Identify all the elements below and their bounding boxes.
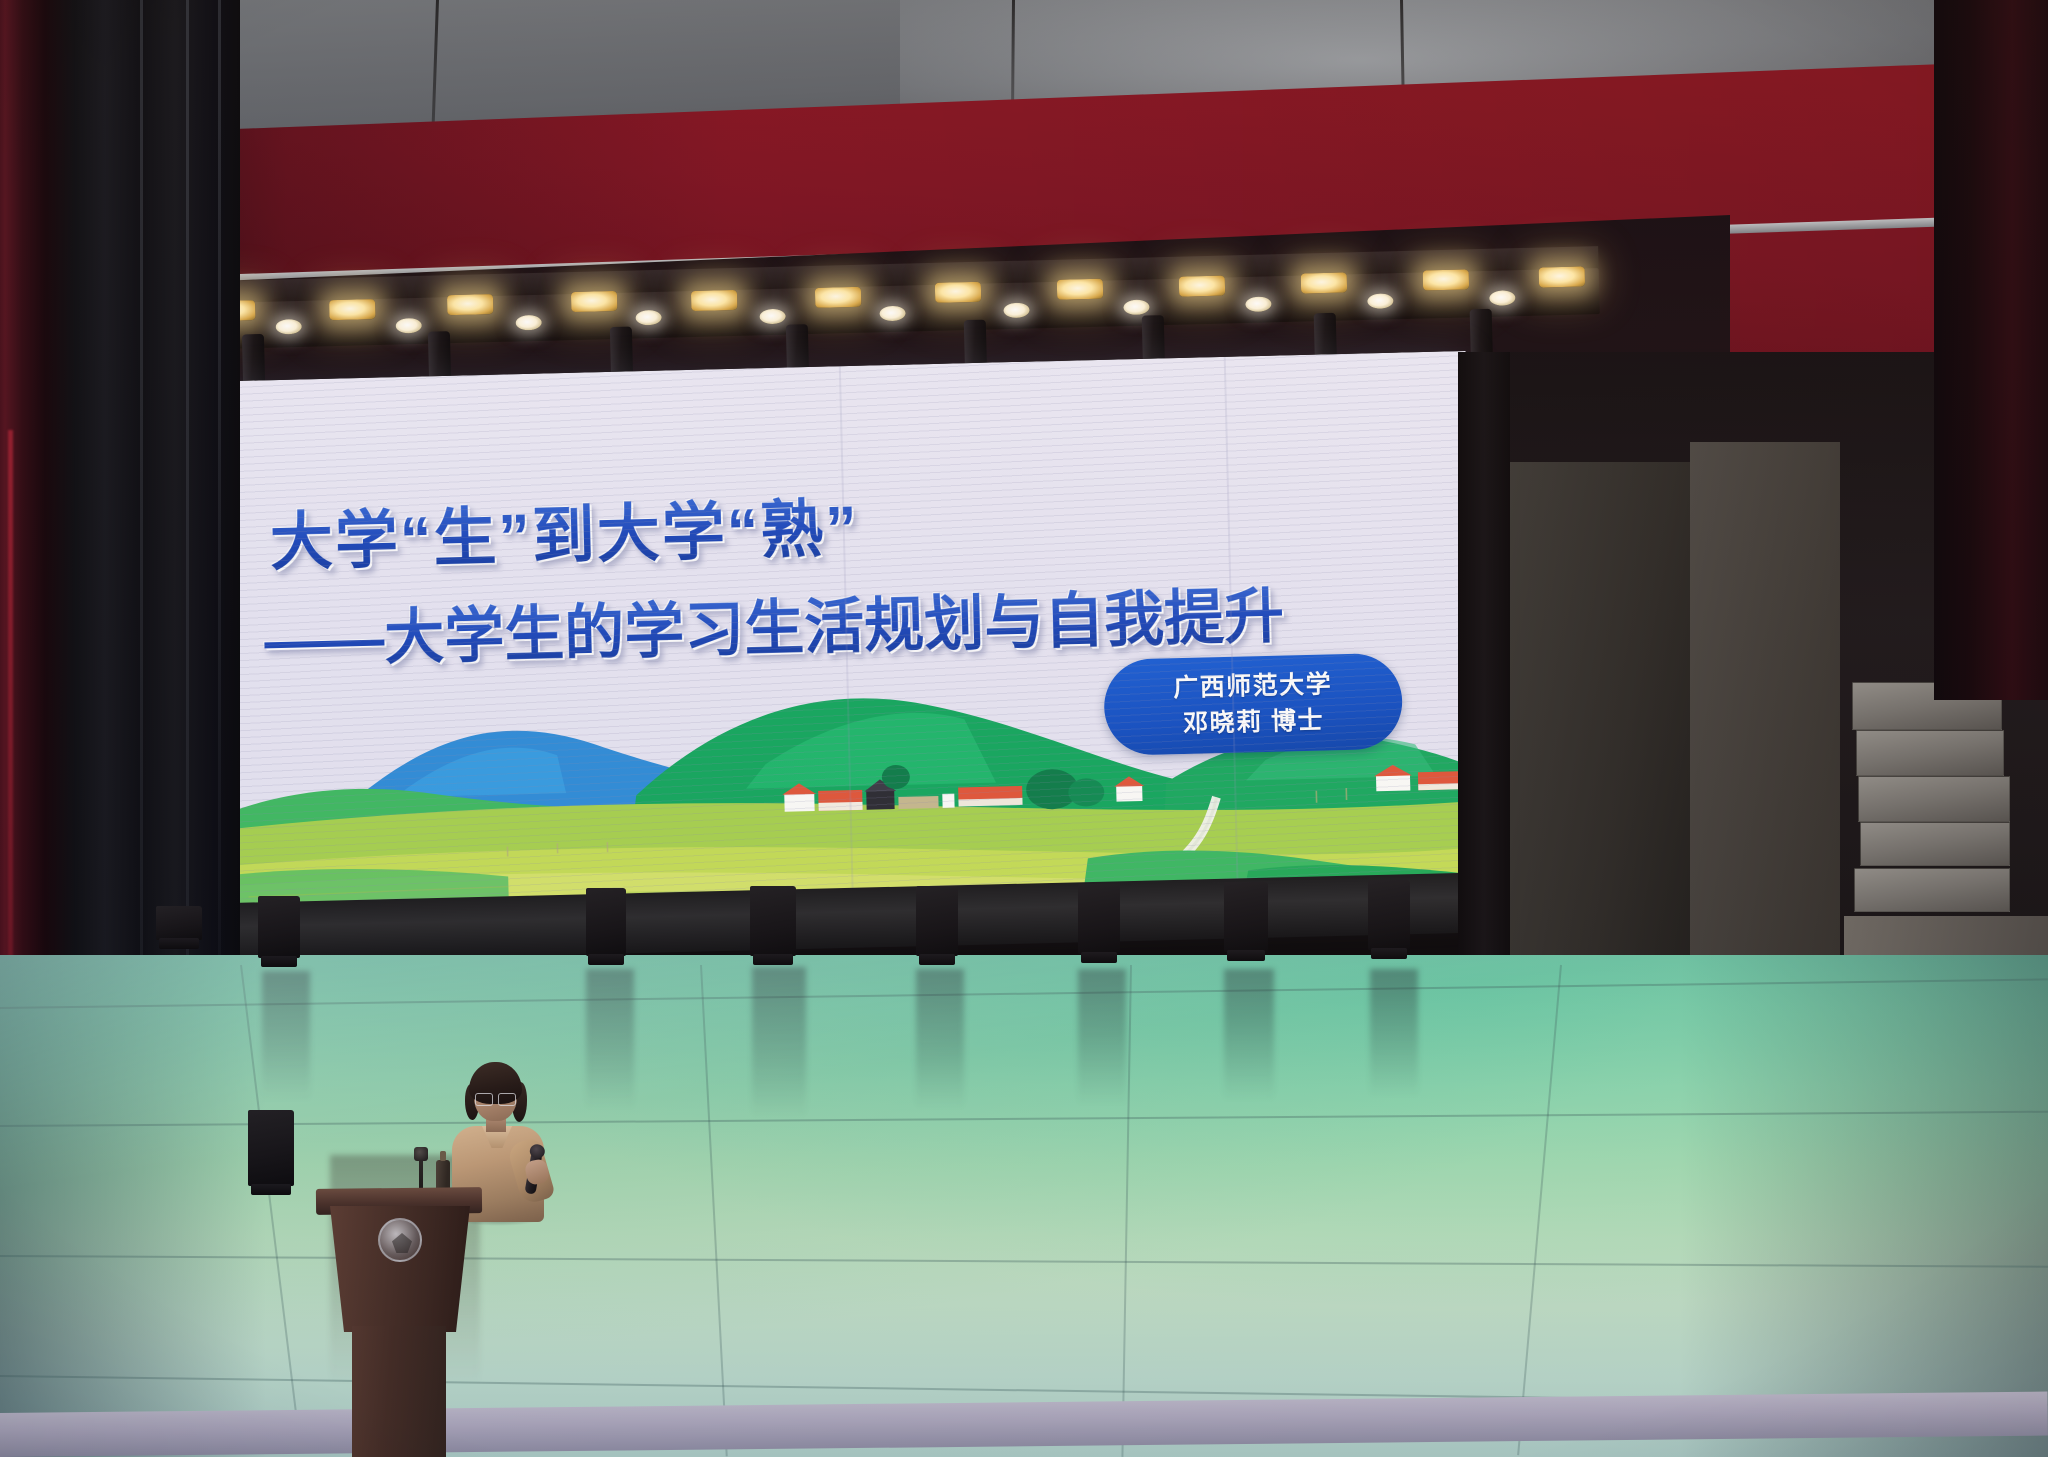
floor-gloss-highlight: [0, 955, 2048, 1457]
stage-monitor-speaker: [156, 906, 202, 940]
stage-lamp: [571, 291, 617, 312]
slide-surface: 大学“生”到大学“熟” ——大学生的学习生活规划与自我提升 广西师范大学 邓晓莉…: [196, 351, 1479, 942]
stage-monitor-speaker: [1078, 884, 1120, 954]
presenter-badge: 广西师范大学 邓晓莉 博士: [1103, 653, 1403, 756]
floor-wedge-monitor: [248, 1110, 294, 1186]
stage-lamp: [447, 294, 493, 315]
stage-lamp: [1539, 266, 1585, 287]
stage-lamp: [815, 287, 861, 308]
university-crest-icon: [378, 1218, 422, 1262]
stage-monitor-speaker: [750, 886, 796, 956]
stage-monitor-speaker: [1368, 880, 1410, 950]
storage-crate: [1858, 776, 2010, 822]
led-screen: 大学“生”到大学“熟” ——大学生的学习生活规划与自我提升 广西师范大学 邓晓莉…: [196, 351, 1479, 942]
auditorium-scene: 大学“生”到大学“熟” ——大学生的学习生活规划与自我提升 广西师范大学 邓晓莉…: [0, 0, 2048, 1457]
glasses-icon: [475, 1093, 516, 1104]
stage-lamp: [935, 282, 981, 303]
stage-lamp: [1179, 276, 1225, 297]
wing-flat-panel: [1510, 462, 1690, 1022]
slide-title: 大学“生”到大学“熟”: [269, 478, 860, 583]
stage-floor: [0, 955, 2048, 1457]
stage-monitor-speaker: [258, 896, 300, 958]
storage-crate: [1860, 822, 2010, 866]
storage-crate: [1856, 730, 2004, 776]
stage-curtain-right: [1934, 0, 2048, 700]
stage-monitor-speaker: [916, 886, 958, 956]
stage-lamp: [691, 290, 737, 311]
storage-crate: [1854, 868, 2010, 912]
stage-monitor-speaker: [586, 888, 626, 956]
wing-flat-panel: [1690, 442, 1840, 1042]
stage-lamp: [1423, 269, 1469, 290]
stage-lamp: [1057, 279, 1103, 300]
stage-monitor-speaker: [1224, 882, 1268, 952]
lectern-column: [352, 1326, 446, 1457]
stage-lamp: [329, 299, 375, 320]
stage-lamp: [1301, 272, 1347, 293]
badge-presenter: 邓晓莉 博士: [1183, 703, 1325, 743]
curtain-fold: [218, 0, 221, 980]
badge-organization: 广西师范大学: [1173, 666, 1333, 706]
